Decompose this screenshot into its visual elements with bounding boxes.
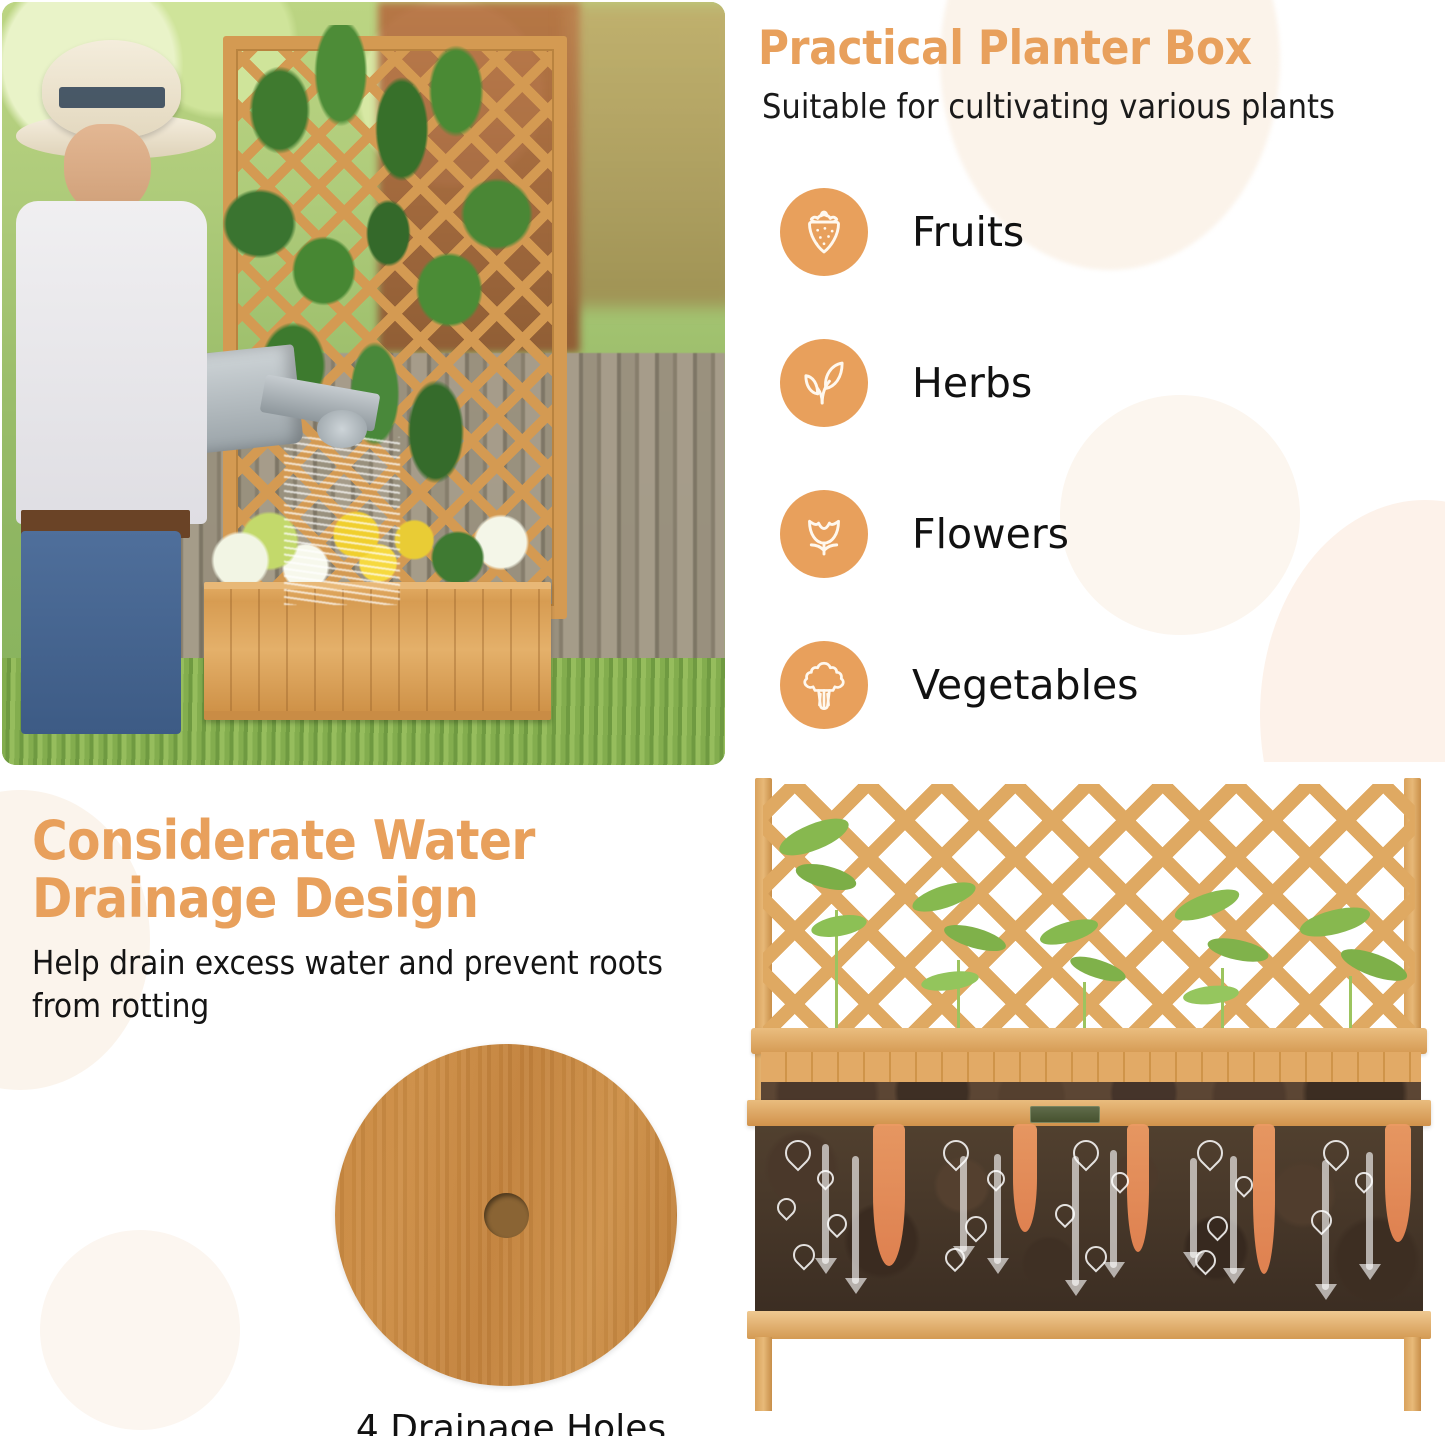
water-flow-arrow	[1183, 1158, 1205, 1258]
water-droplet-icon	[773, 1194, 800, 1221]
page-subtitle: Suitable for cultivating various plants	[762, 87, 1438, 128]
hero-photo	[2, 2, 725, 765]
water-flow-arrow	[1103, 1150, 1125, 1268]
carrot-root	[1253, 1124, 1275, 1274]
list-item-flowers: Flowers	[748, 458, 1438, 609]
carrot-root	[1127, 1124, 1149, 1252]
page-title: Practical Planter Box	[758, 24, 1438, 73]
gardener-jeans	[21, 531, 181, 735]
carrot-root	[1013, 1124, 1037, 1232]
soil-cross-section	[755, 1126, 1423, 1317]
water-flow-arrow	[1359, 1152, 1381, 1270]
list-item-herbs: Herbs	[748, 307, 1438, 458]
drainage-hole	[484, 1193, 529, 1238]
tulip-icon	[780, 490, 868, 578]
section-title-line2: Drainage Design	[32, 867, 478, 930]
water-flow-arrow	[1315, 1160, 1337, 1290]
list-item-label: Herbs	[912, 359, 1032, 407]
section-subtitle: Help drain excess water and prevent root…	[32, 941, 712, 1028]
broccoli-icon	[780, 641, 868, 729]
planter-bottom-rail	[747, 1311, 1431, 1339]
background-fence-secondary	[566, 2, 725, 307]
water-flow-arrow	[987, 1154, 1009, 1264]
planter-top-rail	[751, 1028, 1427, 1054]
list-item-label: Vegetables	[912, 661, 1139, 709]
drainage-hole-caption: 4 Drainage Holes	[335, 1408, 687, 1436]
list-item-label: Fruits	[912, 208, 1024, 256]
carrot-root	[1385, 1124, 1411, 1242]
water-stream	[284, 437, 400, 605]
brand-plate	[1030, 1106, 1100, 1123]
water-flow-arrow	[953, 1156, 975, 1252]
wood-disc	[335, 1044, 677, 1386]
strawberry-icon	[780, 188, 868, 276]
water-flow-arrow	[1223, 1156, 1245, 1274]
carrot-root	[873, 1124, 905, 1266]
planter-leg-left	[755, 1337, 772, 1411]
list-item-fruits: Fruits	[748, 156, 1438, 307]
list-item-label: Flowers	[912, 510, 1069, 558]
planter-leg-right	[1404, 1337, 1421, 1411]
section-title-line1: Considerate Water	[32, 809, 535, 872]
top-feature-section: Practical Planter Box Suitable for culti…	[748, 24, 1438, 760]
section-title: Considerate Water Drainage Design	[32, 812, 712, 929]
drainage-text-section: Considerate Water Drainage Design Help d…	[32, 812, 712, 1028]
product-photo	[733, 762, 1445, 1436]
marketing-infographic: Practical Planter Box Suitable for culti…	[0, 0, 1445, 1436]
water-droplet-icon	[780, 1135, 817, 1172]
water-flow-arrow	[1065, 1156, 1087, 1286]
water-flow-arrow	[845, 1156, 867, 1284]
water-flow-arrow	[815, 1144, 837, 1264]
gardener-figure	[16, 33, 233, 735]
drainage-hole-illustration: 4 Drainage Holes	[335, 1044, 687, 1436]
leaves-icon	[780, 339, 868, 427]
gardener-shirt	[16, 201, 207, 524]
plant-type-list: Fruits Herbs	[748, 156, 1438, 760]
list-item-vegetables: Vegetables	[748, 609, 1438, 760]
decorative-blob	[40, 1230, 240, 1430]
